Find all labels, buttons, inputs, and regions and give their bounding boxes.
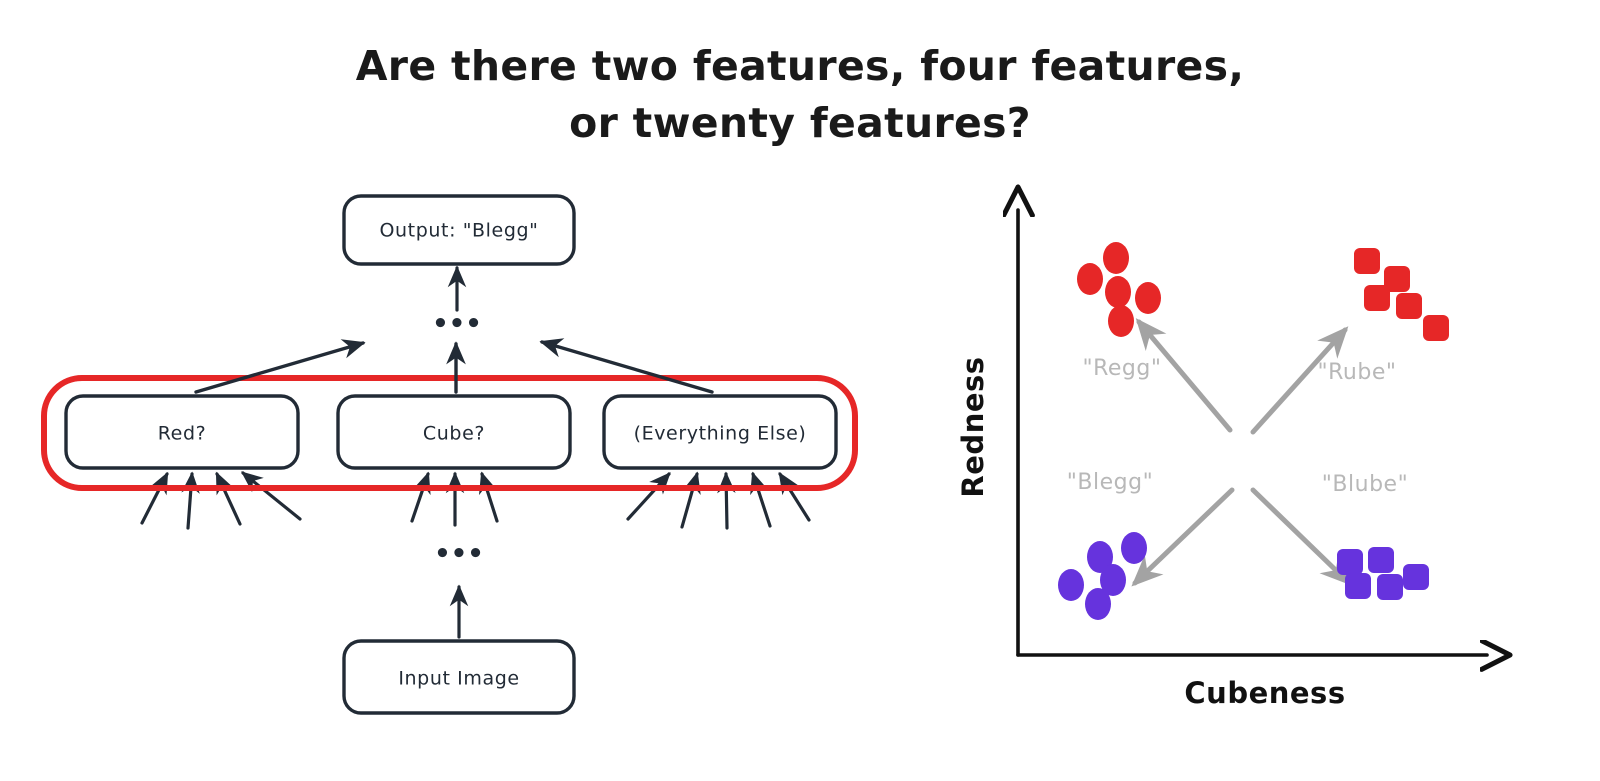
data-point bbox=[1345, 573, 1371, 599]
cluster-label-rube: "Rube" bbox=[1318, 360, 1397, 385]
cluster-rube bbox=[1354, 248, 1449, 341]
data-point bbox=[1354, 248, 1380, 274]
data-point bbox=[1377, 574, 1403, 600]
cluster-regg bbox=[1077, 242, 1161, 337]
data-point bbox=[1368, 547, 1394, 573]
data-point bbox=[1403, 564, 1429, 590]
cluster-blegg bbox=[1058, 532, 1147, 620]
data-point bbox=[1085, 588, 1111, 620]
x-axis-label: Cubeness bbox=[1184, 676, 1345, 710]
data-point bbox=[1103, 242, 1129, 274]
data-point bbox=[1423, 315, 1449, 341]
cluster-arrow-blegg bbox=[1135, 490, 1232, 583]
y-axis-label: Redness bbox=[956, 356, 990, 497]
cluster-arrows bbox=[1135, 322, 1348, 583]
diagram-canvas: Are there two features, four features, o… bbox=[0, 0, 1600, 781]
cluster-label-blube: "Blube" bbox=[1322, 472, 1408, 497]
data-point bbox=[1121, 532, 1147, 564]
cluster-arrow-blube bbox=[1253, 490, 1348, 582]
data-point bbox=[1135, 282, 1161, 314]
data-point bbox=[1364, 285, 1390, 311]
data-point bbox=[1058, 569, 1084, 601]
cluster-label-regg: "Regg" bbox=[1082, 356, 1161, 381]
cluster-blube bbox=[1337, 547, 1429, 600]
cluster-label-blegg: "Blegg" bbox=[1067, 470, 1153, 495]
data-point bbox=[1337, 549, 1363, 575]
data-point bbox=[1077, 263, 1103, 295]
data-point bbox=[1396, 293, 1422, 319]
data-point bbox=[1105, 276, 1131, 308]
data-point bbox=[1108, 305, 1134, 337]
feature-space-scatter-plot: Cubeness Redness bbox=[0, 0, 1600, 781]
